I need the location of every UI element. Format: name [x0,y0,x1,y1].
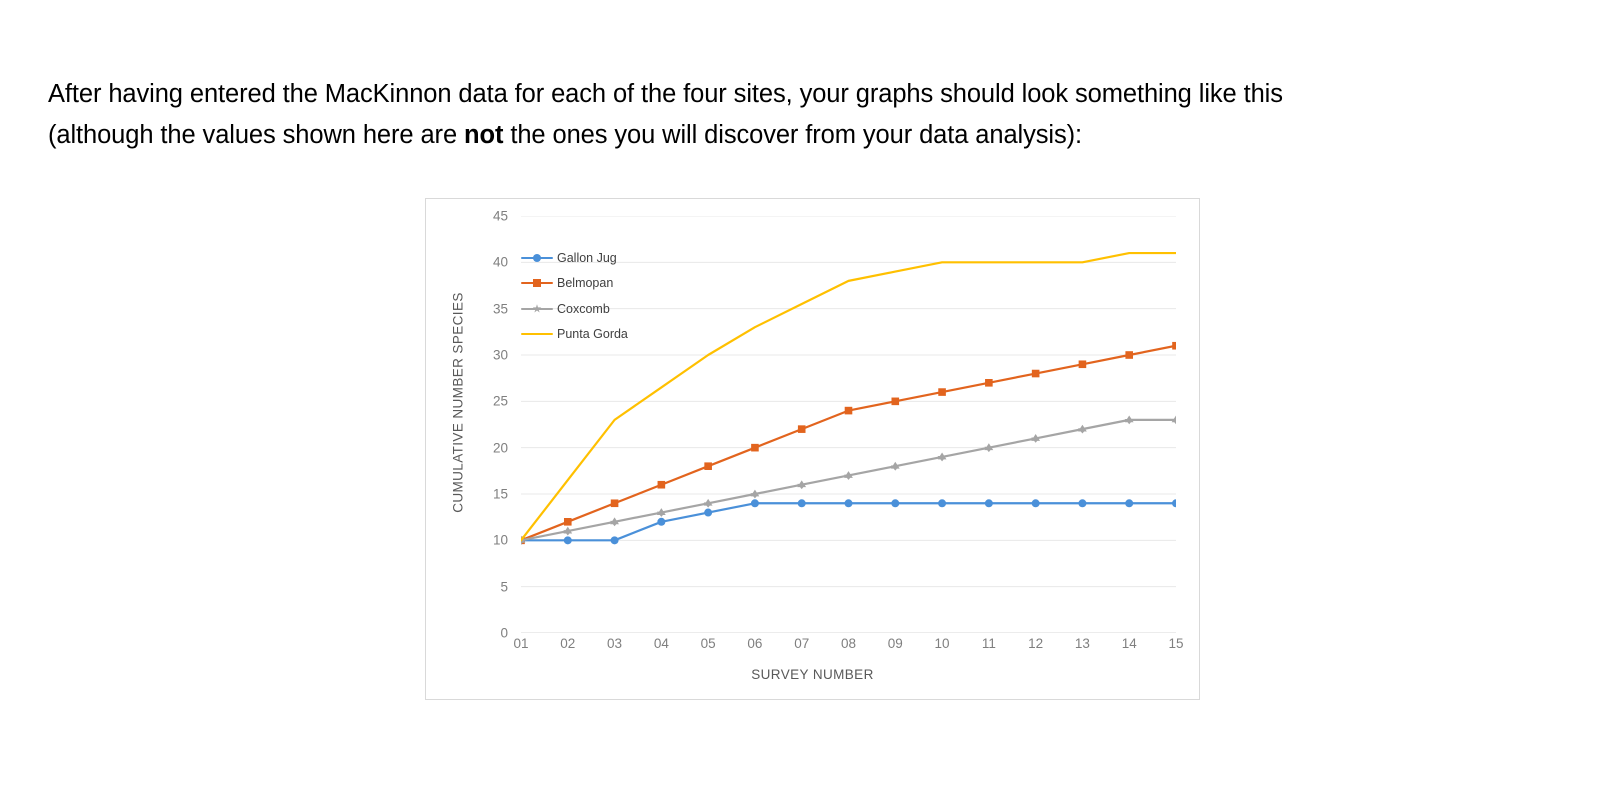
series-coxcomb [521,415,1176,544]
legend-label: Belmopan [557,276,613,290]
y-axis-tick-labels: 454035302520151050 [474,199,508,699]
legend-label: Gallon Jug [557,251,617,265]
y-axis-tick-40: 40 [474,255,508,270]
series-line [521,420,1176,540]
chart-plot-area: CUMULATIVE NUMBER SPECIES 45403530252015… [426,199,1199,699]
x-axis-tick-15: 15 [1156,636,1196,651]
chart-legend: Gallon JugBelmopanCoxcombPunta Gorda [521,245,671,347]
intro-emphasis-not: not [464,121,503,149]
chart-container[interactable]: CUMULATIVE NUMBER SPECIES 45403530252015… [425,198,1200,700]
legend-line [521,333,553,335]
x-axis-tick-05: 05 [688,636,728,651]
x-axis-tick-07: 07 [782,636,822,651]
x-axis-tick-13: 13 [1062,636,1102,651]
y-axis-tick-45: 45 [474,209,508,224]
legend-item-punta-gorda[interactable]: Punta Gorda [521,322,671,348]
legend-item-gallon-jug[interactable]: Gallon Jug [521,245,671,271]
legend-item-belmopan[interactable]: Belmopan [521,271,671,297]
series-line [521,346,1176,541]
legend-swatch-icon [521,252,553,264]
legend-marker-circle-icon [533,254,541,262]
x-axis-tick-10: 10 [922,636,962,651]
x-axis-tick-01: 01 [501,636,541,651]
y-axis-title: CUMULATIVE NUMBER SPECIES [451,278,466,528]
legend-item-coxcomb[interactable]: Coxcomb [521,296,671,322]
y-axis-tick-20: 20 [474,440,508,455]
x-axis-tick-04: 04 [641,636,681,651]
y-axis-tick-30: 30 [474,348,508,363]
intro-line-2-part-b: the ones you will discover from your dat… [503,121,1082,149]
x-axis-tick-03: 03 [595,636,635,651]
x-axis-tick-08: 08 [829,636,869,651]
y-axis-tick-5: 5 [474,579,508,594]
intro-line-2-part-a: (although the values shown here are [48,121,464,149]
intro-line-1: After having entered the MacKinnon data … [48,80,1283,108]
x-axis-tick-09: 09 [875,636,915,651]
x-axis-tick-02: 02 [548,636,588,651]
x-axis-tick-06: 06 [735,636,775,651]
legend-label: Coxcomb [557,302,610,316]
y-axis-tick-25: 25 [474,394,508,409]
legend-swatch-icon [521,277,553,289]
x-axis-tick-12: 12 [1016,636,1056,651]
y-axis-tick-35: 35 [474,301,508,316]
x-axis-tick-14: 14 [1109,636,1149,651]
legend-label: Punta Gorda [557,327,628,341]
intro-paragraph: After having entered the MacKinnon data … [48,74,1448,156]
x-axis-title: SURVEY NUMBER [426,667,1199,682]
series-belmopan [521,342,1176,544]
x-axis-tick-11: 11 [969,636,1009,651]
x-axis-tick-labels: 010203040506070809101112131415 [521,636,1176,656]
y-axis-tick-15: 15 [474,487,508,502]
legend-swatch-icon [521,303,553,315]
legend-marker-square-icon [533,279,541,287]
y-axis-tick-10: 10 [474,533,508,548]
legend-swatch-icon [521,328,553,340]
